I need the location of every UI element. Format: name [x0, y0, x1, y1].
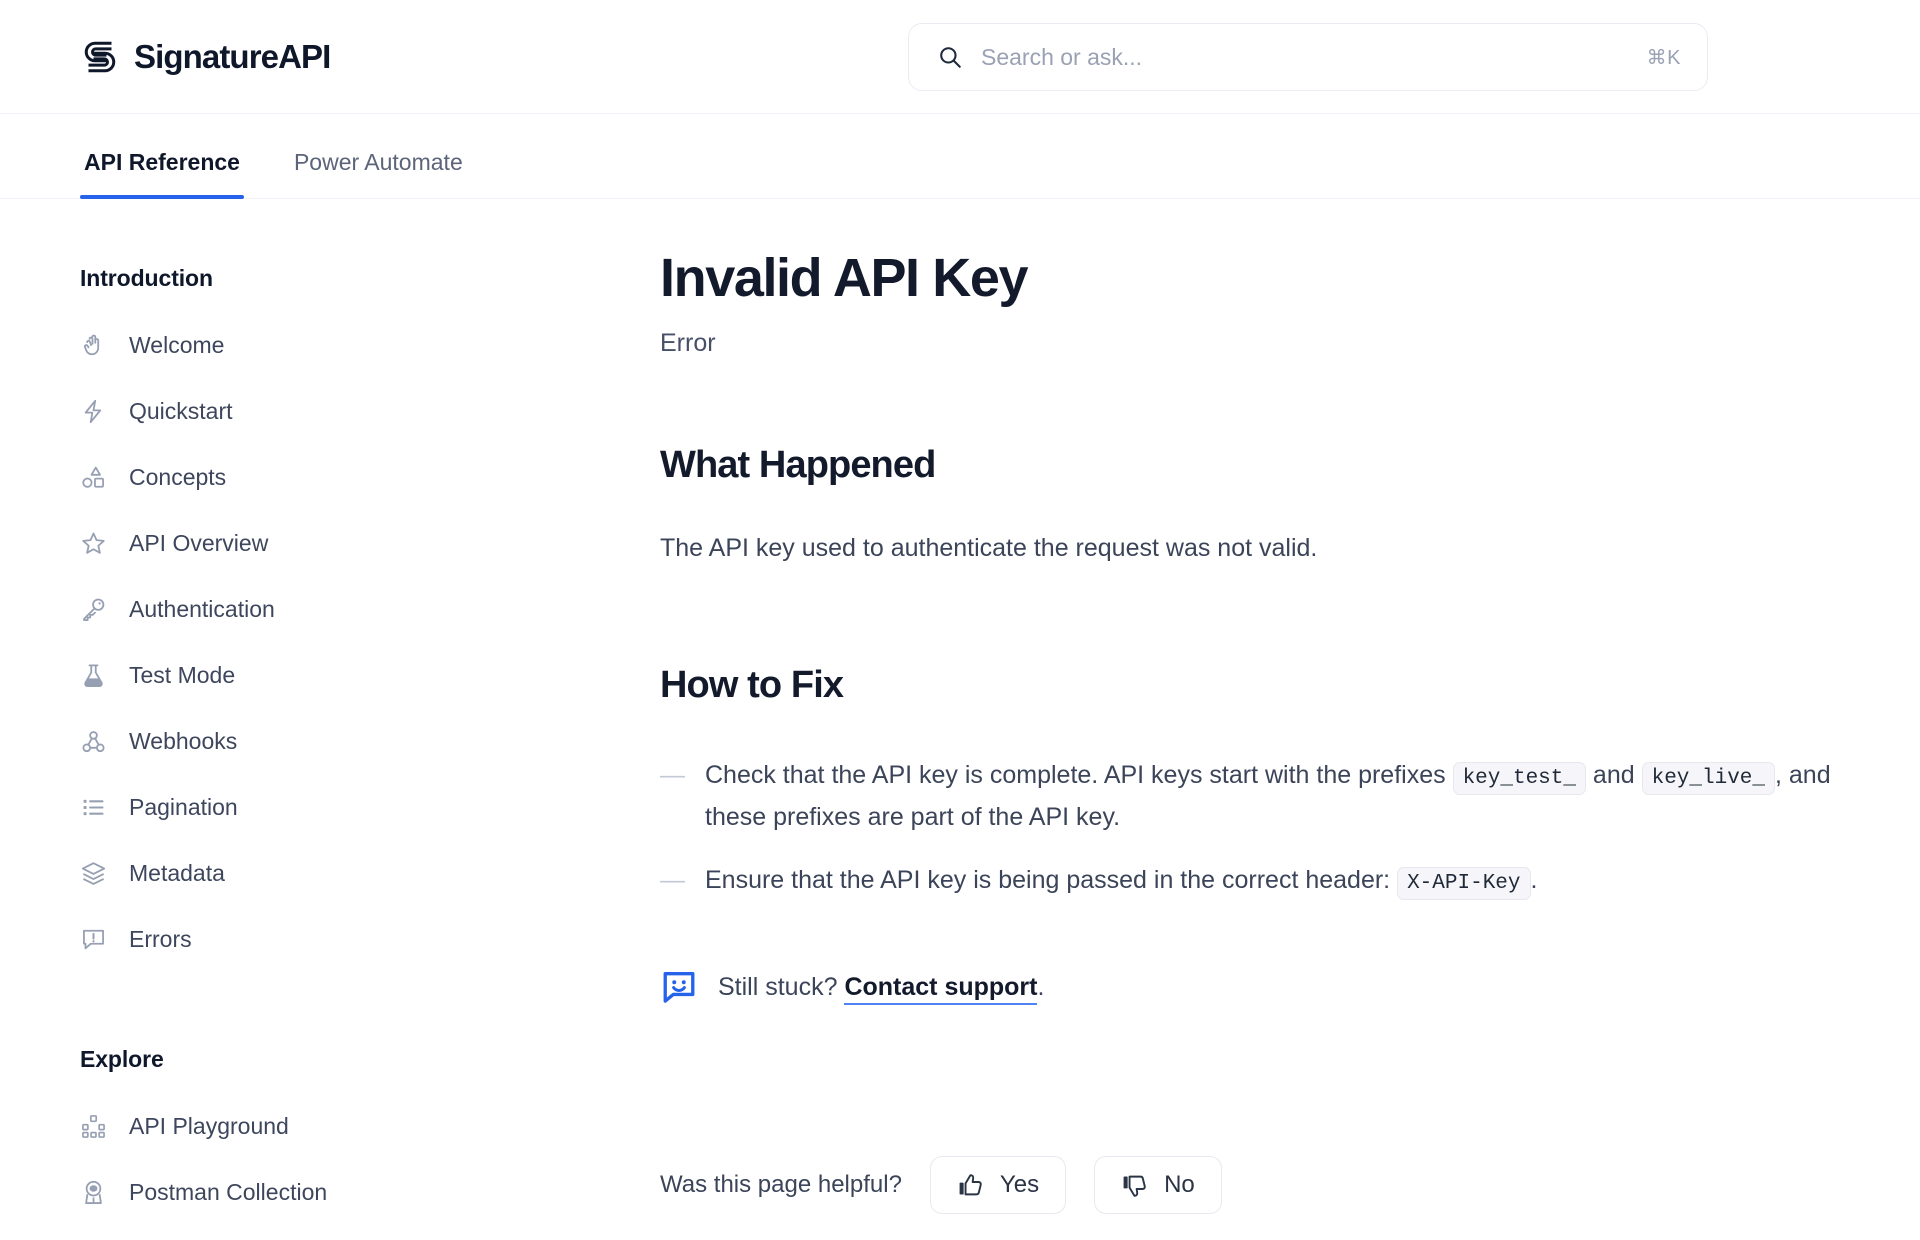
- sidebar-item-test-mode[interactable]: Test Mode: [80, 652, 580, 698]
- main-content: Invalid API Key Error What Happened The …: [580, 199, 1920, 1214]
- sidebar-item-quickstart[interactable]: Quickstart: [80, 388, 580, 434]
- how-to-fix-list: — Check that the API key is complete. AP…: [660, 755, 1840, 902]
- feedback-no-button[interactable]: No: [1094, 1156, 1222, 1214]
- list-item: — Ensure that the API key is being passe…: [660, 860, 1840, 902]
- smiley-message-icon: [660, 968, 698, 1006]
- inline-code-chip: key_live_: [1642, 762, 1775, 795]
- bullet-text: Ensure that the API key is being passed …: [705, 860, 1840, 902]
- page-title: Invalid API Key: [660, 249, 1840, 307]
- support-text: Still stuck? Contact support.: [718, 973, 1044, 1002]
- sidebar-section-explore-title: Explore: [80, 1046, 580, 1073]
- layers-icon: [80, 860, 107, 887]
- tab-power-automate[interactable]: Power Automate: [290, 149, 467, 198]
- section-heading-how-to-fix: How to Fix: [660, 664, 1840, 707]
- support-suffix: .: [1037, 973, 1044, 1001]
- sidebar-item-api-overview[interactable]: API Overview: [80, 520, 580, 566]
- sidebar-item-quickstart-label: Quickstart: [129, 398, 233, 425]
- page-layout: Introduction Welcome Quickstart Concepts: [0, 199, 1920, 1235]
- sidebar-item-api-overview-label: API Overview: [129, 530, 268, 557]
- sidebar-item-authentication-label: Authentication: [129, 596, 275, 623]
- primary-tabbar: API Reference Power Automate: [0, 114, 1920, 199]
- sidebar-item-api-playground[interactable]: API Playground: [80, 1103, 580, 1149]
- sidebar-item-webhooks[interactable]: Webhooks: [80, 718, 580, 764]
- sidebar-item-welcome-label: Welcome: [129, 332, 224, 359]
- feedback-yes-label: Yes: [1000, 1171, 1039, 1199]
- bullet-dash-marker: —: [660, 860, 685, 902]
- sidebar-item-concepts[interactable]: Concepts: [80, 454, 580, 500]
- sidebar-item-test-mode-label: Test Mode: [129, 662, 235, 689]
- support-prefix: Still stuck?: [718, 973, 844, 1001]
- astronaut-icon: [80, 1179, 107, 1206]
- section-heading-what-happened: What Happened: [660, 444, 1840, 487]
- inline-code-chip: X-API-Key: [1397, 867, 1530, 900]
- sidebar-item-metadata[interactable]: Metadata: [80, 850, 580, 896]
- feedback-no-label: No: [1164, 1171, 1195, 1199]
- network-blocks-icon: [80, 1113, 107, 1140]
- message-alert-icon: [80, 926, 107, 953]
- brand-name: SignatureAPI: [134, 40, 330, 73]
- sidebar-nav: Introduction Welcome Quickstart Concepts: [0, 199, 580, 1235]
- list-icon: [80, 794, 107, 821]
- page-subtitle: Error: [660, 329, 1840, 358]
- sidebar-item-errors[interactable]: Errors: [80, 916, 580, 962]
- page-feedback: Was this page helpful? Yes No: [660, 1156, 1840, 1214]
- thumbs-down-icon: [1121, 1172, 1148, 1199]
- sidebar-item-pagination[interactable]: Pagination: [80, 784, 580, 830]
- webhook-icon: [80, 728, 107, 755]
- sidebar-item-metadata-label: Metadata: [129, 860, 225, 887]
- sidebar-item-welcome[interactable]: Welcome: [80, 322, 580, 368]
- sidebar-item-authentication[interactable]: Authentication: [80, 586, 580, 632]
- waving-hand-icon: [80, 332, 107, 359]
- signature-s-logo-icon: [80, 37, 120, 77]
- shapes-icon: [80, 464, 107, 491]
- search-icon: [937, 44, 963, 70]
- what-happened-body: The API key used to authenticate the req…: [660, 529, 1840, 568]
- search-input[interactable]: [981, 44, 1631, 71]
- sidebar-item-concepts-label: Concepts: [129, 464, 226, 491]
- search-shortcut-hint: ⌘K: [1647, 45, 1681, 70]
- key-icon: [80, 596, 107, 623]
- lightning-bolt-icon: [80, 398, 107, 425]
- feedback-question: Was this page helpful?: [660, 1171, 902, 1199]
- feedback-yes-button[interactable]: Yes: [930, 1156, 1066, 1214]
- sidebar-item-api-playground-label: API Playground: [129, 1113, 289, 1140]
- sidebar-item-errors-label: Errors: [129, 926, 192, 953]
- tab-api-reference[interactable]: API Reference: [80, 149, 244, 198]
- sidebar-item-postman-collection-label: Postman Collection: [129, 1179, 327, 1206]
- search-container[interactable]: ⌘K: [908, 23, 1708, 91]
- sidebar-item-webhooks-label: Webhooks: [129, 728, 237, 755]
- bullet-dash-marker: —: [660, 755, 685, 797]
- star-icon: [80, 530, 107, 557]
- contact-support-link[interactable]: Contact support: [844, 973, 1037, 1005]
- inline-code-chip: key_test_: [1453, 762, 1586, 795]
- sidebar-section-introduction-title: Introduction: [80, 265, 580, 292]
- sidebar-item-postman-collection[interactable]: Postman Collection: [80, 1169, 580, 1215]
- search-box[interactable]: ⌘K: [908, 23, 1708, 91]
- app-header: SignatureAPI ⌘K: [0, 0, 1920, 114]
- tab-api-reference-label: API Reference: [84, 149, 240, 175]
- sidebar-item-pagination-label: Pagination: [129, 794, 238, 821]
- flask-icon: [80, 662, 107, 689]
- support-callout: Still stuck? Contact support.: [660, 968, 1840, 1006]
- bullet-text: Check that the API key is complete. API …: [705, 755, 1840, 838]
- brand-logo[interactable]: SignatureAPI: [80, 37, 330, 77]
- thumbs-up-icon: [957, 1172, 984, 1199]
- list-item: — Check that the API key is complete. AP…: [660, 755, 1840, 838]
- tab-power-automate-label: Power Automate: [294, 149, 463, 175]
